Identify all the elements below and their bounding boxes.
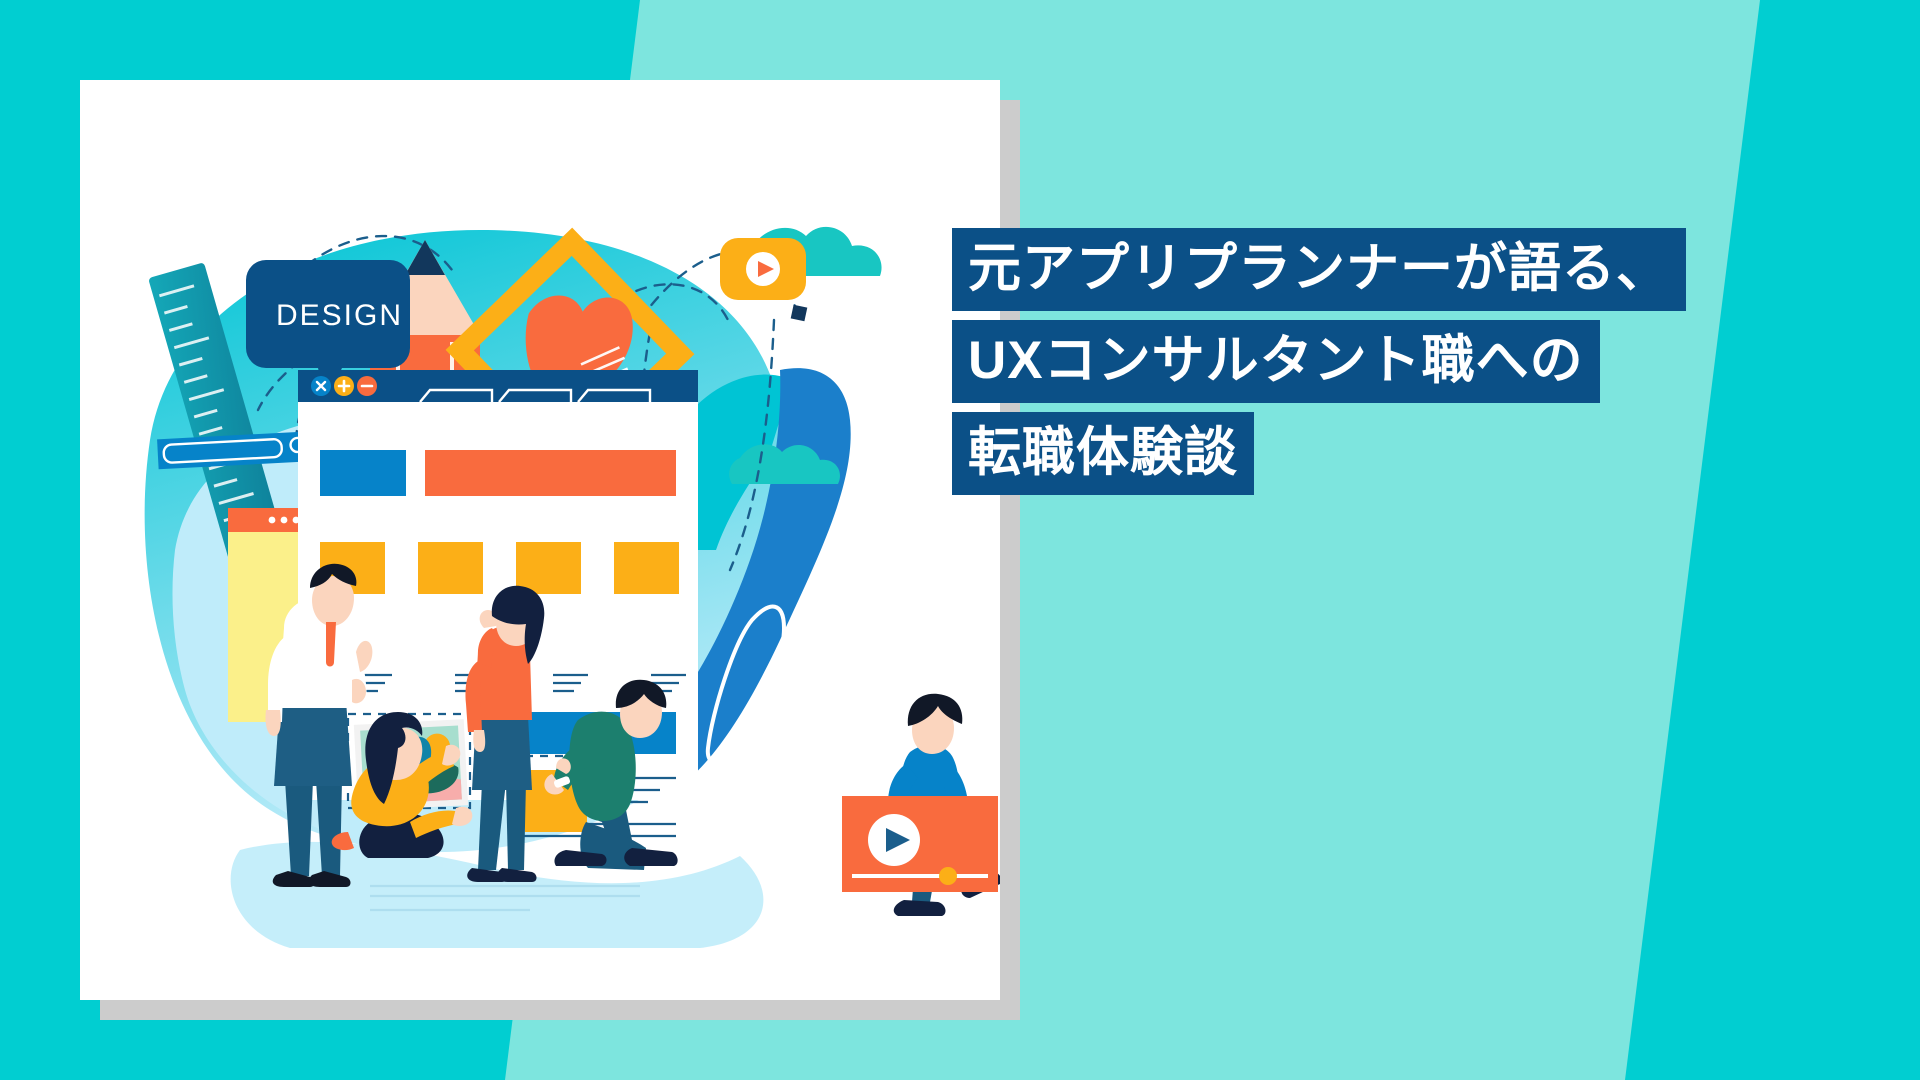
window-controls [311,376,377,396]
video-badge-icon [720,238,806,300]
content-block-orange [425,450,676,496]
title-line-2: UXコンサルタント職への [952,320,1600,403]
media-window-dots [269,517,300,524]
illustration-card: DESIGN [80,80,1000,1000]
poster-canvas: DESIGN [0,0,1920,1080]
ux-design-illustration: DESIGN [80,80,1000,1000]
design-bubble-label: DESIGN [276,299,403,332]
page-title: 元アプリプランナーが語る、 UXコンサルタント職への 転職体験談 [952,228,1686,495]
video-card [842,796,998,892]
title-line-3: 転職体験談 [952,412,1254,495]
content-block-blue [320,450,406,496]
title-line-1: 元アプリプランナーが語る、 [952,228,1686,311]
